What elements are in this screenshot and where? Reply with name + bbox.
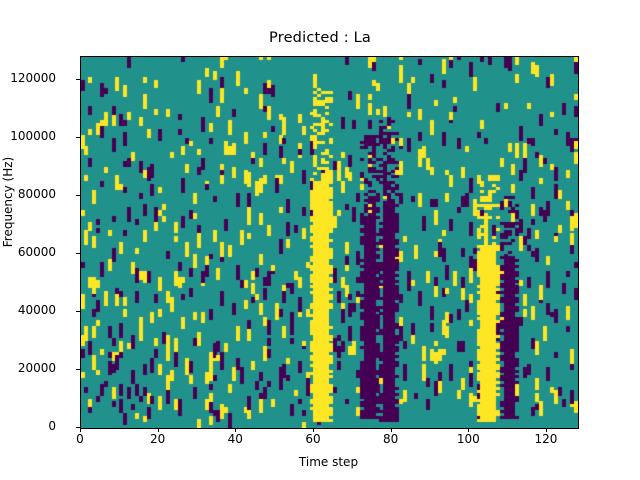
x-tick-mark	[235, 428, 236, 432]
x-tick-mark	[313, 428, 314, 432]
y-tick-label: 20000	[0, 361, 56, 375]
x-tick-label: 80	[361, 432, 421, 446]
x-tick-label: 100	[438, 432, 498, 446]
y-tick-label: 100000	[0, 129, 56, 143]
x-tick-label: 0	[50, 432, 110, 446]
x-tick-mark	[80, 428, 81, 432]
x-tick-mark	[158, 428, 159, 432]
y-tick-label: 60000	[0, 245, 56, 259]
x-tick-mark	[546, 428, 547, 432]
x-tick-mark	[391, 428, 392, 432]
matplotlib-figure: Predicted : La Frequency (Hz) 0200004000…	[0, 0, 640, 480]
x-tick-label: 120	[516, 432, 576, 446]
y-tick-label: 80000	[0, 187, 56, 201]
x-axis-label: Time step	[80, 455, 577, 469]
y-tick-label: 120000	[0, 71, 56, 85]
x-tick-label: 60	[283, 432, 343, 446]
y-tick-label: 40000	[0, 303, 56, 317]
y-axis-label: Frequency (Hz)	[1, 0, 15, 442]
heatmap-canvas	[81, 57, 578, 428]
x-tick-label: 20	[128, 432, 188, 446]
heatmap-axes	[80, 56, 579, 429]
x-tick-label: 40	[205, 432, 265, 446]
x-tick-mark	[468, 428, 469, 432]
page-title: Predicted : La	[0, 30, 640, 46]
y-tick-label: 0	[0, 419, 56, 433]
